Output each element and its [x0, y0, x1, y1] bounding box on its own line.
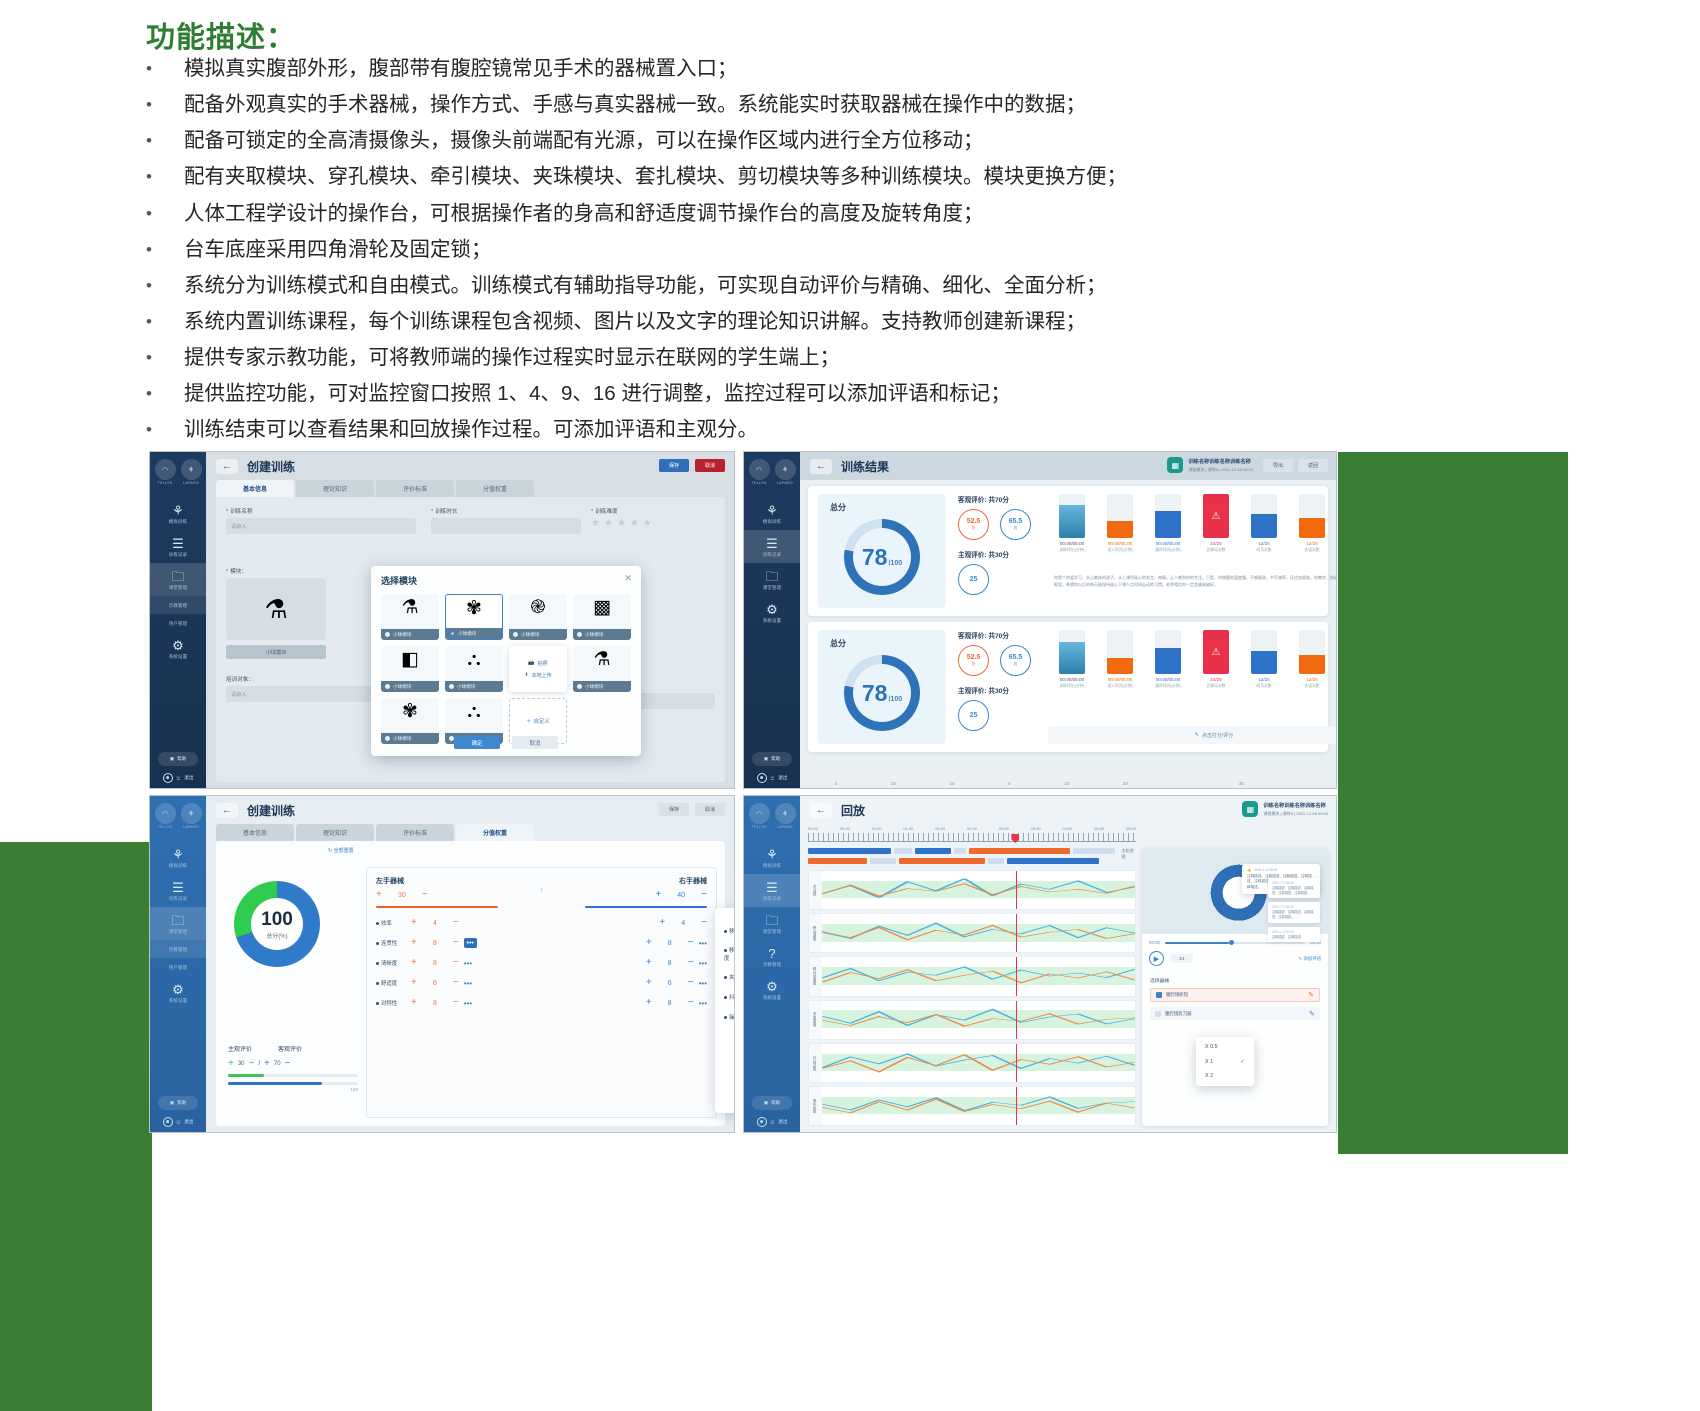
training-icon: ⚘ [172, 848, 184, 861]
right-hand-column: 右手器械 + 40 − +4−+8−•••+8−•••+6−•••+8−••• [576, 868, 716, 1117]
close-icon[interactable]: ✕ [624, 573, 632, 584]
module-ball2-icon: ⚗ [593, 649, 610, 671]
axis-group: 01020 [981, 781, 1154, 786]
current-time: 00:00 [1149, 940, 1160, 945]
sidebar-item-users[interactable]: 用户管理 [150, 614, 206, 632]
export-button[interactable]: 导出 [1263, 459, 1293, 472]
subjective-increase-button[interactable]: + [228, 1059, 234, 1069]
total-score-label: 总分 [830, 638, 846, 649]
module-mesh2-icon: ⛬ [467, 701, 480, 723]
metric-label: 成功次数 [1256, 548, 1271, 553]
metric-label: 操作时间(分钟) [1155, 684, 1180, 689]
playhead-line [1016, 1001, 1017, 1039]
back-button[interactable]: ← [810, 803, 832, 818]
select-module-dialog: 选择模块 ✕ ⚗小球模块✾小球模块֎小球模块▩小球模块◧小球模块⛬小球模块📷拍照… [371, 566, 641, 756]
user-info: ▦ 训练名称训练名称训练名称 课程模块 | 课时A | 2022-12-28 0… [1242, 801, 1328, 817]
tab-criteria[interactable]: 评价标准 [376, 480, 454, 497]
module-card-label: 小球模块 [457, 684, 475, 690]
module-card-label: 小球模块 [521, 632, 539, 638]
ruler-tick-label: 02:00 [935, 826, 945, 831]
checkbox-icon[interactable] [1156, 992, 1162, 998]
metric-name: 操作效率 [724, 1013, 734, 1021]
duration-input[interactable] [431, 518, 581, 534]
comment-text: 注释描述、注释描述。 [1272, 935, 1316, 940]
metric-bar [1155, 494, 1181, 538]
metric-detail-popover: 移动速度+4−移动加速度+8−夹紧速度+8−抖动+8−操作效率+8− [715, 908, 734, 1113]
chart-plot [822, 1087, 1135, 1125]
weight-metric-row: 效率+4− [376, 918, 498, 928]
bullet-icon: • [146, 92, 184, 118]
back-button[interactable]: ← [810, 459, 832, 474]
comment-card[interactable]: 2021-1-2 09:00注释描述、注释描述。 [1268, 927, 1320, 943]
sidebar-item-records[interactable]: ☰训练记录 [744, 530, 800, 563]
label-training-name: 训练名称 [226, 507, 416, 515]
records-icon: ☰ [766, 537, 778, 550]
progress-max: 100 [228, 1087, 358, 1092]
axis-tick: 20 [1123, 781, 1128, 786]
right-hand-slider[interactable] [585, 906, 707, 908]
metric: ⚠24/20总移动次数 [1196, 494, 1236, 573]
training-icon: ⚘ [766, 848, 778, 861]
subjective-label: 主观评价: 共30分 [958, 685, 1048, 695]
save-button[interactable]: 保存 [659, 803, 689, 816]
divider: / [258, 1061, 260, 1067]
player-controls: ▶ X1 ✎ 添加评语 [1142, 945, 1328, 972]
label-duration: 训练时长 [431, 507, 581, 515]
decrease-button[interactable]: − [688, 998, 694, 1008]
track-row[interactable] [808, 858, 1136, 866]
label-module: 模块： [226, 567, 326, 575]
sidebar-item-training[interactable]: ⚘模拟训练 [150, 841, 206, 874]
course-name: 训练名称训练名称训练名称 [1188, 458, 1253, 465]
module-card[interactable]: ⚗小球模块 [573, 646, 631, 692]
metric-chart: 移动速度 [808, 913, 1136, 953]
sidebar-item-classes[interactable]: 🗀课堂管理 [150, 907, 206, 940]
left-decrease-button[interactable]: − [422, 890, 428, 900]
metric-chart: 移动加速度 [808, 956, 1136, 996]
module-ball-icon: ⚗ [401, 597, 418, 619]
metric-name: 移动速度 [724, 927, 734, 935]
speed-option[interactable]: X 2 [1196, 1069, 1254, 1083]
more-button[interactable]: ••• [699, 999, 707, 1008]
metric-bar [1251, 494, 1277, 538]
total-score-panel: 总分 78/100 [818, 494, 946, 608]
sidebar-item-records[interactable]: ☰训练记录 [150, 874, 206, 907]
dialog-cancel-button[interactable]: 取消 [512, 736, 558, 749]
gear-icon: ⚙ [766, 603, 778, 616]
metric-label: 训练时长(分钟) [1059, 548, 1084, 553]
bullet-icon: • [146, 237, 184, 263]
page-heading: 回放 [841, 802, 865, 819]
list-item: •系统分为训练模式和自由模式。训练模式有辅助指导功能，可实现自动评价与精确、细化… [146, 273, 1246, 299]
cancel-button[interactable]: 取消 [695, 459, 725, 472]
star-icon[interactable]: ★ [643, 518, 652, 529]
help-button[interactable]: ▣帮助 [158, 752, 198, 766]
increase-button[interactable]: + [411, 918, 417, 928]
cancel-button[interactable]: 取消 [695, 803, 725, 816]
star-icon[interactable]: ★ [630, 518, 639, 529]
track-row[interactable]: 主轨迹图 [808, 848, 1136, 856]
star-icon[interactable]: ★ [617, 518, 626, 529]
subjective-decrease-button[interactable]: − [249, 1059, 255, 1069]
list-item: •提供专家示教功能，可将教师端的操作过程实时显示在联网的学生端上； [146, 345, 1246, 371]
sidebar-item-help[interactable]: ?示教管理 [744, 940, 800, 973]
metric-value: 00:00/05:00 [1108, 541, 1132, 546]
tab-weights[interactable]: 分值权重 [456, 480, 534, 497]
more-button[interactable]: ••• [464, 979, 472, 988]
chart-plot [822, 871, 1135, 909]
increase-button[interactable]: + [659, 918, 665, 928]
list-item: •配有夹取模块、穿孔模块、牵引模块、夹珠模块、套扎模块、剪切模块等多种训练模块。… [146, 164, 1246, 190]
increase-button[interactable]: + [411, 938, 417, 948]
chart-axis-label: 夹紧速度 [809, 1001, 822, 1039]
axis-tick: 10 [1064, 781, 1069, 786]
module-name[interactable]: 小球模块 [226, 645, 326, 659]
reset-all-button[interactable]: ↻ 全部重置 [328, 847, 354, 854]
module-card[interactable]: ◧小球模块 [381, 646, 439, 692]
star-icon[interactable]: ★ [604, 518, 613, 529]
logout-button[interactable]: ☻⎋退出 [744, 1117, 800, 1127]
sidebar-item-settings[interactable]: ⚙系统设置 [150, 632, 206, 665]
axis-ticks: 010200102030 [808, 781, 1328, 786]
metric-bar [1251, 630, 1277, 674]
metric-value: 00:00/05:00 [1060, 541, 1084, 546]
decrease-button[interactable]: − [688, 958, 694, 968]
objective-increase-button[interactable]: + [264, 1059, 270, 1069]
ruler-ticks [808, 833, 1136, 842]
sidebar-item-training[interactable]: ⚘模拟训练 [744, 497, 800, 530]
sidebar: ◠TELLYN ⚘LAPARO ⚘模拟训练 ☰训练记录 🗀课堂管理 示教管理 用… [150, 452, 206, 788]
list-item-text: 系统内置训练课程，每个训练课程包含视频、图片以及文字的理论知识讲解。支持教师创建… [184, 309, 1246, 335]
radio-icon[interactable] [385, 684, 390, 689]
metric: 00:00/05:00操作时间(分钟) [1148, 630, 1188, 718]
logo-tellyn-icon: ◠ [749, 459, 770, 480]
tab-theory[interactable]: 理论知识 [296, 480, 374, 497]
bullet-icon: • [146, 201, 184, 227]
bullet-icon: • [146, 381, 184, 407]
logo-tellyn-icon: ◠ [749, 803, 770, 824]
tab-theory[interactable]: 理论知识 [296, 824, 374, 841]
module-card-label: 小球模块 [585, 632, 603, 638]
folder-icon: 🗀 [171, 570, 184, 583]
weight-metric-row: +6−••• [585, 978, 707, 988]
metric-value: 4 [422, 920, 448, 927]
dialog-confirm-button[interactable]: 确定 [454, 736, 500, 749]
plus-icon: ＋ [526, 717, 531, 725]
increase-button[interactable]: + [411, 998, 417, 1008]
objective-value: 70 [274, 1061, 281, 1067]
increase-button[interactable]: + [411, 958, 417, 968]
save-button[interactable]: 保存 [659, 459, 689, 472]
star-icon[interactable]: ★ [591, 518, 600, 529]
sidebar-item-classes[interactable]: 🗀课堂管理 [744, 907, 800, 940]
hand-score-rings: 52.5 左 65.5 右 [958, 645, 1048, 676]
sidebar-item-records[interactable]: ☰训练记录 [150, 530, 206, 563]
warning-icon: ⚠ [1212, 511, 1221, 522]
radio-icon[interactable] [449, 684, 454, 689]
decrease-button[interactable]: − [688, 938, 694, 948]
weights-content: ↻ 全部重置 100 总分(%) 主观评价 客观评价 [216, 841, 725, 1126]
ruler-tick-label: 00:30 [840, 826, 850, 831]
sidebar-item-settings[interactable]: ⚙系统设置 [744, 973, 800, 1006]
left-increase-button[interactable]: + [376, 890, 382, 900]
ruler-tick-label: 01:30 [903, 826, 913, 831]
decrease-button[interactable]: − [453, 938, 459, 948]
question-icon: ? [768, 947, 775, 960]
training-name-input[interactable]: 请输入 [226, 518, 416, 534]
tab-basic-info[interactable]: 基本信息 [216, 480, 294, 497]
help-button[interactable]: ▣帮助 [752, 752, 792, 766]
radio-icon[interactable] [450, 631, 455, 636]
objective-label: 客观评价: 共70分 [958, 494, 1048, 504]
course-meta: 课程模块 | 课时A | 2022-12-28 09:00 [1188, 467, 1253, 473]
comment-card[interactable]: 2021-1-2 09:00注释描述、注释描述、注释描述、注释描述。 [1268, 902, 1320, 922]
metric-bar: ⚠ [1203, 630, 1229, 674]
tab-weights[interactable]: 分值权重 [456, 824, 534, 841]
ruler-tick-label: 04:30 [1094, 826, 1104, 831]
metric-label: 失误次数 [1304, 548, 1319, 553]
metric: 12/20成功次数 [1244, 494, 1284, 573]
weight-metric-row: +4− [585, 918, 707, 928]
timeline-ruler[interactable]: 00:0000:3001:0001:3002:0002:3003:0003:30… [808, 826, 1136, 846]
metric-value: 6 [422, 980, 448, 987]
chart-axis-label: 操作效率 [809, 1087, 822, 1125]
metric-value: 24/20 [1210, 541, 1222, 546]
bullet-icon: • [146, 164, 184, 190]
objective-decrease-button[interactable]: − [285, 1059, 291, 1069]
metric: 00:00/05:00进入时间(分钟) [1100, 494, 1140, 573]
sidebar-item-teaching[interactable]: 示教管理 [150, 940, 206, 958]
increase-button[interactable]: + [646, 978, 652, 988]
metric-chart: 夹紧速度 [808, 1000, 1136, 1040]
decrease-button[interactable]: − [701, 918, 707, 928]
list-item: •人体工程学设计的操作台，可根据操作者的身高和舒适度调节操作台的高度及旋转角度； [146, 201, 1246, 227]
logo-laparo-icon: ⚘ [775, 803, 796, 824]
decrease-button[interactable]: − [688, 978, 694, 988]
increase-button[interactable]: + [646, 958, 652, 968]
module-card[interactable]: ✾小球模块 [445, 594, 503, 640]
chart-plot [822, 957, 1135, 995]
metric-value: 6 [657, 980, 683, 987]
radio-icon[interactable] [513, 632, 518, 637]
sidebar-item-teaching[interactable]: 示教管理 [150, 596, 206, 614]
metric-label: 总移动次数 [1207, 548, 1226, 553]
module-card-label: 小球模块 [585, 684, 603, 690]
result-card: 总分 78/100 客观评价: 共70分 52.5 左 [808, 486, 1328, 616]
right-decrease-button[interactable]: − [701, 890, 707, 900]
metric: 00:00/05:00训练时长(分钟) [1052, 494, 1092, 573]
blue-progress [228, 1082, 358, 1085]
more-button[interactable]: ••• [464, 938, 477, 948]
decrease-button[interactable]: − [453, 978, 459, 988]
left-hand-title: 左手器械 [376, 876, 498, 886]
screenshot-playback: ◠TELLYN ⚘LAPARO ⚘模拟训练 ☰训练记录 🗀课堂管理 ?示教管理 … [744, 796, 1336, 1132]
module-card[interactable]: ֎小球模块 [509, 594, 567, 640]
list-item: •系统内置训练课程，每个训练课程包含视频、图片以及文字的理论知识讲解。支持教师创… [146, 309, 1246, 335]
sidebar-item-training[interactable]: ⚘模拟训练 [150, 497, 206, 530]
radio-icon[interactable] [577, 684, 582, 689]
speed-dropdown-menu[interactable]: X 0.5X 1✓X 2 [1196, 1037, 1254, 1086]
add-subjective-button[interactable]: ✎ 点击打分/评分 [1048, 726, 1336, 744]
module-pin2-icon: ✾ [402, 701, 418, 723]
more-button[interactable]: ••• [464, 999, 472, 1008]
metric-value: 00:00/05:00 [1060, 677, 1084, 682]
module-card[interactable]: ⛬小球模块 [445, 646, 503, 692]
module-card-label: 小球模块 [458, 631, 476, 637]
records-icon: ☰ [766, 881, 778, 894]
help-button[interactable]: ▣帮助 [752, 1096, 792, 1110]
metric-bars: 00:00/05:00训练时长(分钟)00:00/05:00进入时间(分钟)00… [1048, 630, 1336, 718]
metric-bar [1107, 630, 1133, 674]
metric-bar [1059, 630, 1085, 674]
local-label: 本地上传 [532, 672, 552, 679]
metric-name: 效率 [376, 919, 406, 927]
video-panel: 👍 2021-1-2 09:00 注释描述、注释描述、注释描述、注释描述、注释描… [1142, 848, 1328, 1126]
metric-label: 失误次数 [1304, 684, 1319, 689]
sidebar-item-settings[interactable]: ⚙系统设置 [150, 976, 206, 1009]
bullet-icon: • [146, 345, 184, 371]
speed-option[interactable]: X 1✓ [1196, 1054, 1254, 1069]
tab-bar: 基本信息 理论知识 评价标准 分值权重 [206, 480, 734, 497]
playhead-line [1016, 1087, 1017, 1125]
more-button[interactable]: ••• [699, 939, 707, 948]
instrument-row-2[interactable]: 腹腔镜剪刀器 ✎ [1150, 1007, 1320, 1020]
screenshot-training-result: ◠TELLYN ⚘LAPARO ⚘模拟训练 ☰训练记录 🗀课堂管理 ⚙系统设置 … [744, 452, 1336, 788]
module-card-label: 小球模块 [393, 632, 411, 638]
tab-criteria[interactable]: 评价标准 [376, 824, 454, 841]
metric-value: 8 [657, 960, 683, 967]
checkbox-icon[interactable] [1155, 1011, 1161, 1017]
chart-axis-label: 抖动范围 [809, 1044, 822, 1082]
logout-button[interactable]: ☻⎋退出 [150, 1117, 206, 1127]
avatar: ☻ [163, 773, 173, 783]
camera-icon: 📷 [528, 660, 534, 666]
list-item: •台车底座采用四角滑轮及固定锁； [146, 237, 1246, 263]
instrument-row-1[interactable]: 腹腔镜抓钳 ✎ [1150, 988, 1320, 1002]
total-score-denominator: /100 [888, 560, 902, 567]
comment-text: 你是个热爱学习、关心集体的孩子。从上课积极心的发言、神情，让人感到你的专注。只是… [1054, 573, 1336, 608]
list-item: •模拟真实腹部外形，腹部带有腹腔镜常见手术的器械置入口； [146, 56, 1246, 82]
list-item-text: 提供专家示教功能，可将教师端的操作过程实时显示在联网的学生端上； [184, 345, 1246, 371]
more-button[interactable]: ••• [699, 959, 707, 968]
upload-card[interactable]: 📷拍照⬆本地上传 [509, 646, 567, 692]
list-item-text: 配有夹取模块、穿孔模块、牵引模块、夹珠模块、套扎模块、剪切模块等多种训练模块。模… [184, 164, 1246, 190]
course-meta: 课程模块 | 课时A | 2022-12-28 09:00 [1263, 811, 1328, 817]
list-item: •训练结束可以查看结果和回放操作过程。可添加评语和主观分。 [146, 417, 1246, 443]
sidebar-item-classes[interactable]: 🗀课堂管理 [150, 563, 206, 596]
metric-bar [1155, 630, 1181, 674]
sidebar: ◠TELLYN ⚘LAPARO ⚘模拟训练 ☰训练记录 🗀课堂管理 示教管理 用… [150, 796, 206, 1132]
sidebar-item-users[interactable]: 用户管理 [150, 958, 206, 976]
training-icon: ⚘ [766, 504, 778, 517]
logout-icon: ⎋ [771, 776, 775, 781]
module-pin-icon: ✾ [466, 598, 482, 620]
dialog-title: 选择模块 [381, 574, 631, 587]
metric-chart: 操作效率 [808, 1086, 1136, 1126]
sidebar-item-records[interactable]: ☰训练记录 [744, 874, 800, 907]
more-button[interactable]: ••• [699, 979, 707, 988]
module-mesh-icon: ⛬ [467, 649, 480, 671]
metric-value: 12/20 [1258, 677, 1270, 682]
speed-selector[interactable]: X1 [1171, 954, 1193, 963]
module-card[interactable]: ▩小球模块 [573, 594, 631, 640]
decrease-button[interactable]: − [453, 998, 459, 1008]
radio-icon[interactable] [577, 632, 582, 637]
metric-chart: 抖动范围 [808, 1043, 1136, 1083]
difficulty-stars[interactable]: ★★ ★★ ★ [591, 518, 721, 529]
logout-button[interactable]: ☻⎋退出 [744, 773, 800, 783]
logout-button[interactable]: ☻⎋退出 [150, 773, 206, 783]
weight-metric-row: 移动速度+4− [724, 926, 734, 936]
increase-button[interactable]: + [646, 998, 652, 1008]
increase-button[interactable]: + [411, 978, 417, 988]
decrease-button[interactable]: − [453, 918, 459, 928]
sidebar-item-classes[interactable]: 🗀课堂管理 [744, 563, 800, 596]
right-hand-ring: 65.5 右 [1000, 645, 1031, 676]
list-item: •配备可锁定的全高清摄像头，摄像头前端配有光源，可以在操作区域内进行全方位移动； [146, 128, 1246, 154]
speed-label: X 1 [1205, 1059, 1213, 1065]
ruler-tick-label: 00:00 [808, 826, 818, 831]
bullet-icon: • [146, 56, 184, 82]
back-top-button[interactable]: 返回 [1298, 459, 1328, 472]
list-item-text: 配备外观真实的手术器械，操作方式、手感与真实器械一致。系统能实时获取器械在操作中… [184, 92, 1246, 118]
module-clip-icon: ◧ [401, 649, 419, 671]
total-score-donut: 78/100 [844, 519, 920, 595]
comment-card[interactable]: 2021-1-2 09:00注释描述、注释描述、注释描述、注释描述、注释描述。 [1268, 878, 1320, 898]
course-icon: ▦ [1167, 457, 1183, 473]
module-grid: ⚗小球模块✾小球模块֎小球模块▩小球模块◧小球模块⛬小球模块📷拍照⬆本地上传⚗小… [381, 594, 631, 744]
user-info: ▦ 训练名称训练名称训练名称 课程模块 | 课时A | 2022-12-28 0… [1167, 457, 1328, 473]
objective-label: 客观评价 [278, 1044, 302, 1053]
metric-name: 移动加速度 [724, 946, 734, 962]
metric-value: 8 [657, 940, 683, 947]
speed-option[interactable]: X 0.5 [1196, 1040, 1254, 1054]
module-card[interactable]: ⚗小球模块 [381, 594, 439, 640]
decrease-button[interactable]: − [453, 958, 459, 968]
metric: 00:00/05:00训练时长(分钟) [1052, 630, 1092, 718]
list-item-text: 人体工程学设计的操作台，可根据操作者的身高和舒适度调节操作台的高度及旋转角度； [184, 201, 1246, 227]
add-comment-button[interactable]: ✎ 添加评语 [1299, 956, 1321, 962]
help-button[interactable]: ▣帮助 [158, 1096, 198, 1110]
play-icon[interactable]: ▶ [1149, 951, 1164, 966]
axis-group: 01020 [808, 781, 981, 786]
metric: 12/20成功次数 [1244, 630, 1284, 718]
increase-button[interactable]: + [646, 938, 652, 948]
list-item: •配备外观真实的手术器械，操作方式、手感与真实器械一致。系统能实时获取器械在操作… [146, 92, 1246, 118]
sidebar-item-training[interactable]: ⚘模拟训练 [744, 841, 800, 874]
label-difficulty: 训练难度 [591, 507, 721, 515]
list-item-text: 模拟真实腹部外形，腹部带有腹腔镜常见手术的器械置入口； [184, 56, 1246, 82]
help-icon: ▣ [764, 756, 768, 762]
metric-value: 8 [657, 1000, 683, 1007]
sidebar-item-settings[interactable]: ⚙系统设置 [744, 596, 800, 629]
tab-basic-info[interactable]: 基本信息 [216, 824, 294, 841]
playhead-line [1016, 1044, 1017, 1082]
axis-tick: 0 [835, 781, 838, 786]
right-increase-button[interactable]: + [655, 890, 661, 900]
more-button[interactable]: ••• [464, 959, 472, 968]
speed-label: X 2 [1205, 1073, 1213, 1079]
left-hand-slider[interactable] [376, 906, 498, 908]
metric-bar: ⚠ [1203, 494, 1229, 538]
radio-icon[interactable] [385, 632, 390, 637]
back-button[interactable]: ← [216, 803, 238, 818]
back-button[interactable]: ← [216, 459, 238, 474]
evaluation-column: 客观评价: 共70分 52.5 左 65.5 右 主观评价: 共30分 25 [946, 630, 1048, 744]
left-hand-column: 左手器械 + 30 − 效率+4−连贯性+8−•••清晰度+8−•••舒适度+6… [367, 868, 507, 1117]
logo-tellyn-icon: ◠ [155, 459, 176, 480]
right-hand-title: 右手器械 [585, 876, 707, 886]
